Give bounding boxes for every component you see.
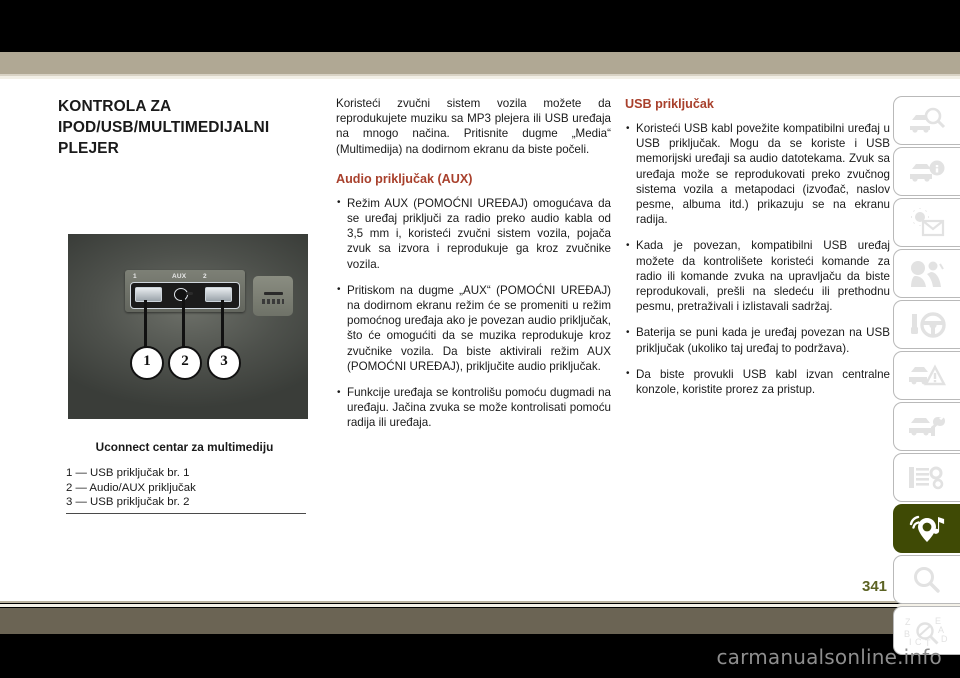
aux-bullet-list: Režim AUX (POMOĆNI UREĐAJ) omogućava da … <box>336 196 611 431</box>
car-info-icon <box>907 159 947 185</box>
car-service-icon <box>907 414 947 440</box>
figure-legend: 1 — USB priključak br. 1 2 — Audio/AUX p… <box>66 466 311 510</box>
legend-item: 1 — USB priključak br. 1 <box>66 466 311 481</box>
tab-car-inspection[interactable] <box>893 96 960 145</box>
list-item: Baterija se puni kada je uređaj povezan … <box>625 325 890 355</box>
middle-column: Koristeći zvučni sistem vozila možete da… <box>336 96 611 431</box>
aux-jack-shadow <box>186 292 193 295</box>
intro-paragraph: Koristeći zvučni sistem vozila možete da… <box>336 96 611 157</box>
aux-section-heading: Audio priključak (AUX) <box>336 171 611 187</box>
multimedia-audio-icon <box>907 514 947 544</box>
svg-text:Z: Z <box>905 617 911 627</box>
legend-item: 3 — USB priključak br. 2 <box>66 495 311 510</box>
callout-leader-2 <box>182 298 185 348</box>
list-item: Pritiskom na dugme „AUX“ (POMOĆNI UREĐAJ… <box>336 283 611 374</box>
bottom-rule-1 <box>0 601 960 603</box>
steering-wheel-icon <box>907 311 947 339</box>
left-column: KONTROLA ZA IPOD/USB/MULTIMEDIJALNI PLEJ… <box>58 96 311 175</box>
callout-1: 1 <box>130 346 164 380</box>
figure-background <box>68 234 308 419</box>
bottom-rule-2 <box>0 604 960 607</box>
tab-car-service[interactable] <box>893 402 960 451</box>
tab-occupant-safety[interactable] <box>893 249 960 298</box>
tab-specifications[interactable] <box>893 453 960 502</box>
index-abc-icon: Z E B A I C T D <box>903 615 951 647</box>
list-item: Koristeći USB kabl povežite kompatibilni… <box>625 121 890 227</box>
power-outlet-icon-text <box>262 299 284 304</box>
svg-text:D: D <box>941 634 948 644</box>
tab-steering-wheel[interactable] <box>893 300 960 349</box>
aux-port-label: AUX <box>172 273 186 280</box>
figure-separator-rule <box>66 513 306 514</box>
tab-search[interactable] <box>893 555 960 604</box>
callout-leader-1 <box>144 300 147 348</box>
tab-multimedia-audio[interactable] <box>893 504 960 553</box>
usb-section-heading: USB priključak <box>625 96 890 112</box>
list-item: Funkcije uređaja se kontrolišu pomoću du… <box>336 385 611 431</box>
legend-item: 2 — Audio/AUX priključak <box>66 481 311 496</box>
top-tan-band <box>0 52 960 74</box>
usb2-port-label: 2 <box>203 273 207 280</box>
tab-comfort-mail[interactable] <box>893 198 960 247</box>
callout-2: 2 <box>168 346 202 380</box>
section-tab-rail: Z E B A I C T D <box>893 96 960 657</box>
list-item: Kada je povezan, kompatibilni USB uređaj… <box>625 238 890 314</box>
search-icon <box>909 566 945 594</box>
car-inspection-icon <box>907 107 947 135</box>
page-number: 341 <box>862 578 887 595</box>
callout-leader-3 <box>221 300 224 348</box>
site-watermark: carmanualsonline.info <box>716 645 942 669</box>
manual-page: KONTROLA ZA IPOD/USB/MULTIMEDIJALNI PLEJ… <box>0 0 960 678</box>
comfort-mail-icon <box>907 208 947 238</box>
power-outlet-icon <box>264 292 283 295</box>
list-item: Da biste provukli USB kabl izvan central… <box>625 367 890 397</box>
bottom-brown-band <box>0 608 960 634</box>
specifications-icon <box>907 464 947 492</box>
tab-road-hazard[interactable] <box>893 351 960 400</box>
usb-port-1 <box>135 287 162 302</box>
tab-car-info[interactable] <box>893 147 960 196</box>
usb-bullet-list: Koristeći USB kabl povežite kompatibilni… <box>625 121 890 397</box>
list-item: Režim AUX (POMOĆNI UREĐAJ) omogućava da … <box>336 196 611 272</box>
right-column: USB priključak Koristeći USB kabl poveži… <box>625 96 890 397</box>
occupant-safety-icon <box>907 259 947 289</box>
uconnect-multimedia-center-photo: 1 AUX 2 1 2 3 <box>68 234 308 419</box>
page-title: KONTROLA ZA IPOD/USB/MULTIMEDIJALNI PLEJ… <box>58 96 311 159</box>
figure-caption: Uconnect centar za multimediju <box>58 440 311 454</box>
road-hazard-icon <box>907 363 947 389</box>
power-outlet-button <box>253 276 293 316</box>
usb1-port-label: 1 <box>133 273 137 280</box>
usb-port-2 <box>205 287 232 302</box>
callout-3: 3 <box>207 346 241 380</box>
